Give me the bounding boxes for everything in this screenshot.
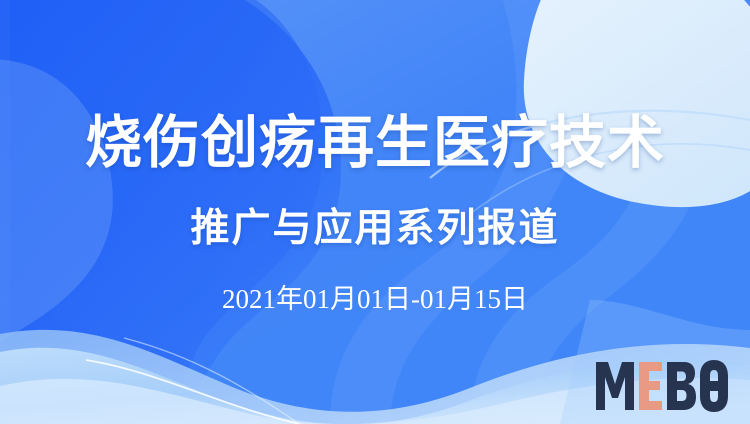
date-range: 2021年01月01日-01月15日 [0,282,750,316]
banner-content: 烧伤创疡再生医疗技术 推广与应用系列报道 2021年01月01日-01月15日 [0,0,750,424]
logo-letter-m [596,362,634,410]
page-title: 烧伤创疡再生医疗技术 [0,107,750,179]
logo-letter-b [667,362,696,410]
mebo-logo [596,360,728,412]
logo-cross-icon [710,381,728,391]
promo-banner: 烧伤创疡再生医疗技术 推广与应用系列报道 2021年01月01日-01月15日 [0,0,750,424]
page-subtitle: 推广与应用系列报道 [0,202,750,256]
logo-letter-e [639,362,662,410]
